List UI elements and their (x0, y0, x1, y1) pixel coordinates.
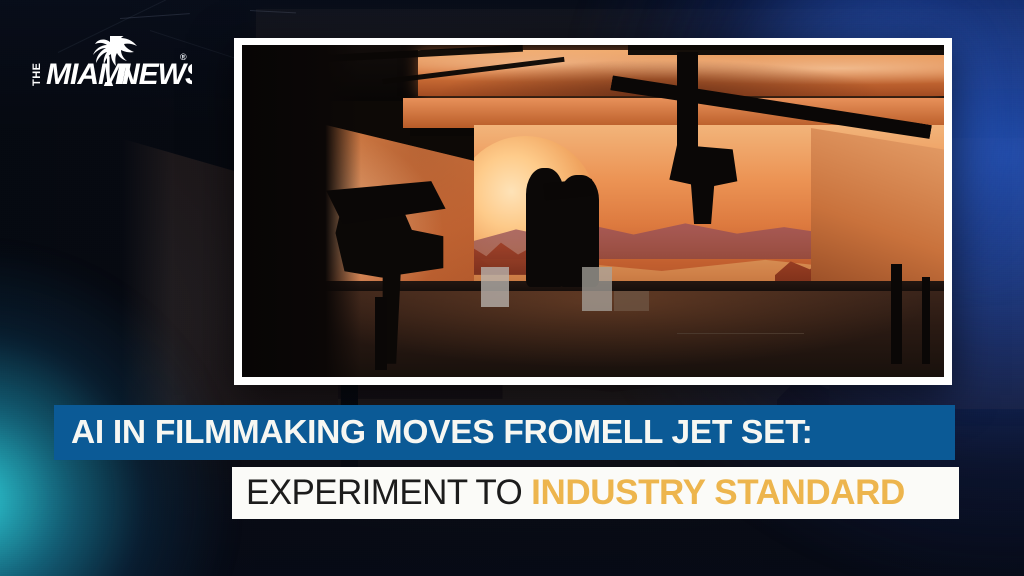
headline-bar-secondary: EXPERIMENT TO INDUSTRY STANDARD (232, 467, 959, 519)
svg-text:THE: THE (31, 63, 43, 87)
floor-cable-run (677, 333, 803, 334)
headline-line-2-highlight: INDUSTRY STANDARD (531, 473, 905, 513)
truss-beam (628, 45, 944, 55)
logo-word-news: NEWS (118, 58, 192, 91)
stage-illustration (242, 45, 944, 377)
tripod-silhouette (375, 297, 386, 370)
light-stand-right (891, 264, 902, 364)
camera-crane-vertical-post (677, 52, 698, 152)
headline-line-2-plain: EXPERIMENT TO (246, 473, 522, 513)
apple-box-prop (582, 267, 611, 310)
logo-word-the: THE (31, 63, 43, 87)
equipment-case-prop (614, 291, 649, 311)
hero-photo (242, 45, 944, 377)
light-stand-far-right (922, 277, 930, 363)
the-miami-news-logo[interactable]: THE MIAMI NEWS ® (22, 36, 192, 94)
hero-photo-card (234, 38, 952, 385)
headline-bar-primary: AI IN FILMMAKING MOVES FROMELL JET SET: (54, 405, 955, 460)
headline-line-1: AI IN FILMMAKING MOVES FROMELL JET SET: (54, 414, 812, 452)
logo-registered-mark: ® (180, 52, 187, 62)
apple-box-prop (481, 267, 509, 307)
